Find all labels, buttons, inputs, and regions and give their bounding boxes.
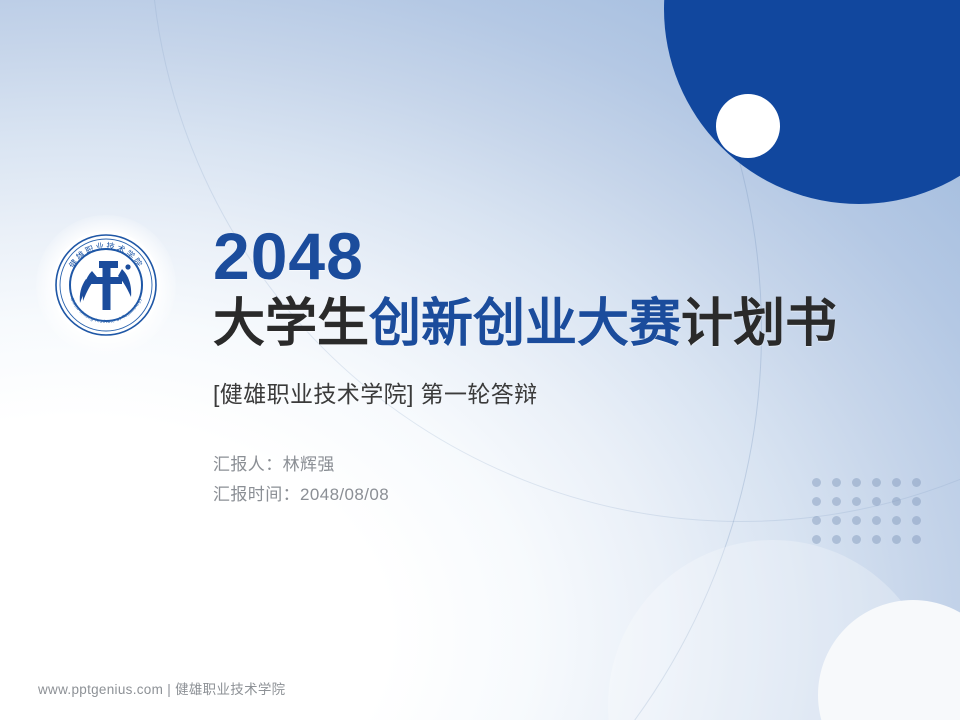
school-logo: 健雄职业技术学院 Chien-shiung Institute of Techn… [52, 231, 160, 339]
presentation-slide: 健雄职业技术学院 Chien-shiung Institute of Techn… [0, 0, 960, 720]
presenter-info: 汇报人：林辉强 汇报时间：2048/08/08 [213, 454, 913, 507]
title-lead: 大学生 [213, 295, 369, 353]
year-heading: 2048 [213, 224, 913, 289]
page-title: 大学生创新创业大赛计划书 [213, 297, 913, 352]
presentation-date: 汇报时间：2048/08/08 [213, 484, 913, 507]
footer-text: www.pptgenius.com | 健雄职业技术学院 [38, 678, 285, 698]
title-trail: 计划书 [681, 295, 837, 353]
subtitle: [健雄职业技术学院] 第一轮答辩 [213, 380, 913, 410]
title-highlight: 创新创业大赛 [369, 295, 681, 353]
presenter-name: 汇报人：林辉强 [213, 454, 913, 477]
logo-emblem-icon: 健雄职业技术学院 Chien-shiung Institute of Techn… [52, 231, 160, 339]
title-block: 2048 大学生创新创业大赛计划书 [健雄职业技术学院] 第一轮答辩 汇报人：林… [213, 224, 913, 514]
white-accent-circle [716, 94, 780, 158]
